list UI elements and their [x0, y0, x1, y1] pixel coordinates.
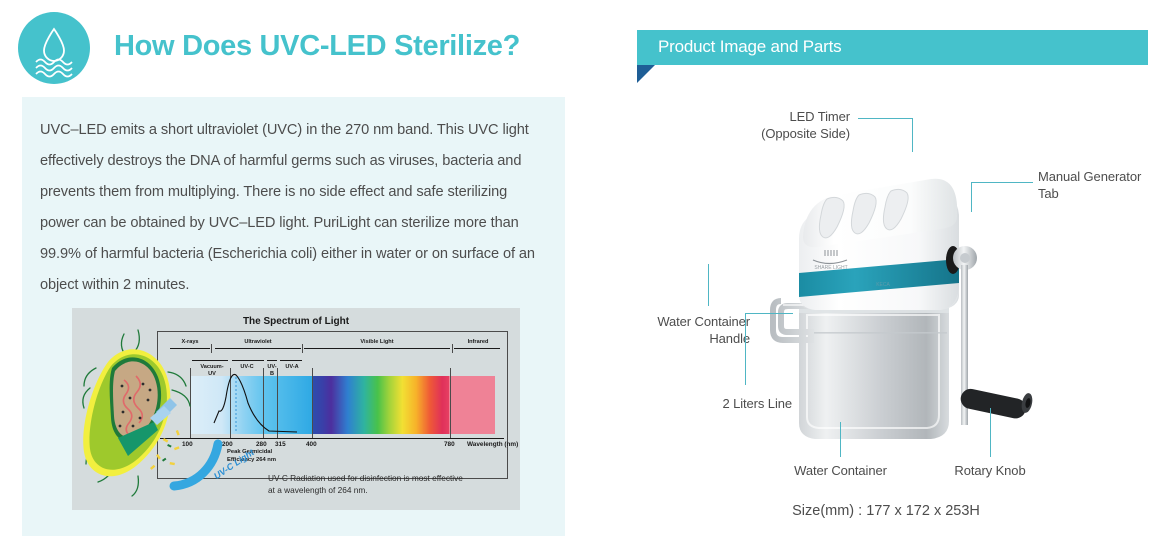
- leader-wc-v: [840, 422, 841, 457]
- axis-tick-780: 780: [444, 441, 455, 448]
- callout-water-container-handle: Water Container Handle: [620, 313, 750, 347]
- callout-two-liters-line: 2 Liters Line: [682, 395, 792, 412]
- left-column: How Does UVC-LED Sterilize? UVC–LED emit…: [0, 0, 600, 536]
- page-title: How Does UVC-LED Sterilize?: [114, 30, 520, 63]
- svg-text:KECA: KECA: [876, 282, 890, 288]
- right-column: Product Image and Parts: [600, 0, 1172, 536]
- leader-led-timer-v: [912, 118, 913, 152]
- header-fold-corner: [637, 65, 655, 83]
- axis-tick-315: 315: [275, 441, 286, 448]
- section-title-row: How Does UVC-LED Sterilize?: [18, 12, 578, 88]
- poster-page: How Does UVC-LED Sterilize? UVC–LED emit…: [0, 0, 1172, 536]
- callout-led-timer: LED Timer (Opposite Side): [730, 108, 850, 142]
- product-size-text: Size(mm) : 177 x 172 x 253H: [600, 503, 1172, 519]
- leader-2l-h: [745, 313, 793, 314]
- axis-label-wavelength: Wavelength (nm): [467, 441, 518, 448]
- water-drop-waves-icon: [18, 12, 90, 84]
- leader-led-timer-h: [858, 118, 913, 119]
- axis-tick-400: 400: [306, 441, 317, 448]
- bacteria-illustration: [78, 326, 228, 501]
- parts-header-title: Product Image and Parts: [658, 37, 841, 57]
- leader-rk-v: [990, 408, 991, 457]
- rotary-knob-part: [959, 387, 1034, 420]
- info-panel: UVC–LED emits a short ultraviolet (UVC) …: [22, 97, 565, 536]
- callout-manual-generator-tab: Manual Generator Tab: [1038, 168, 1168, 202]
- info-body-text: UVC–LED emits a short ultraviolet (UVC) …: [40, 115, 548, 301]
- spectrum-of-light-figure: The Spectrum of Light X-rays Ultraviolet…: [72, 308, 520, 510]
- callout-rotary-knob: Rotary Knob: [930, 462, 1050, 479]
- uvc-radiation-caption: UV-C Radiation used for disinfection is …: [268, 473, 463, 496]
- leader-mgt-v: [971, 182, 972, 212]
- product-illustration: SHARE LIGHT KECA: [755, 155, 1055, 485]
- callout-water-container: Water Container: [768, 462, 913, 479]
- leader-2l-v: [745, 313, 746, 385]
- svg-text:SHARE LIGHT: SHARE LIGHT: [814, 265, 847, 271]
- water-container-body: [799, 305, 949, 439]
- leader-wch-v: [708, 264, 709, 306]
- two-liters-line-mark: [801, 332, 947, 334]
- parts-header-bar: Product Image and Parts: [637, 30, 1148, 65]
- axis-tick-280: 280: [256, 441, 267, 448]
- leader-mgt-h: [971, 182, 1033, 183]
